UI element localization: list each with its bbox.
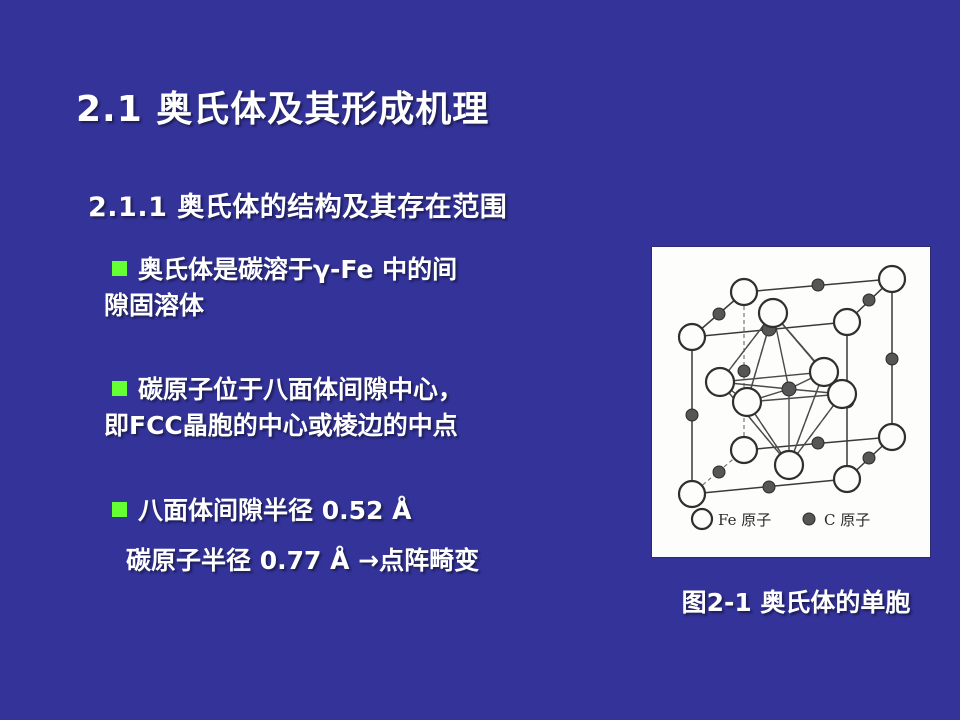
legend-c-symbol xyxy=(803,513,815,525)
bullet-item-2: 碳原子位于八面体间隙中心， 即FCC晶胞的中心或棱边的中点 xyxy=(104,372,624,443)
figure-caption: 图2-1 奥氏体的单胞 xyxy=(646,583,946,619)
green-square-bullet-icon xyxy=(112,381,127,396)
section-subtitle: 2.1.1 奥氏体的结构及其存在范围 xyxy=(88,185,507,224)
legend-fe-symbol xyxy=(692,509,712,529)
slide-root: 2.1 奥氏体及其形成机理 2.1.1 奥氏体的结构及其存在范围 奥氏体是碳溶于… xyxy=(0,0,960,720)
content-body: 奥氏体是碳溶于γ-Fe 中的间 隙固溶体 碳原子位于八面体间隙中心， 即FCC晶… xyxy=(104,252,624,578)
green-square-bullet-icon xyxy=(112,502,127,517)
green-square-bullet-icon xyxy=(112,261,127,276)
bullet-item-1-line1: 奥氏体是碳溶于γ-Fe 中的间 xyxy=(138,255,457,284)
bullet-item-1-line2: 隙固溶体 xyxy=(104,291,204,320)
legend-c-label: C 原子 xyxy=(824,511,870,529)
extra-note-line: 碳原子半径 0.77 Å →点阵畸变 xyxy=(126,543,624,579)
bullet-item-2-line1: 碳原子位于八面体间隙中心， xyxy=(138,375,463,404)
figure-image-panel: Fe 原子 C 原子 xyxy=(652,247,930,557)
bullet-item-3-line1: 八面体间隙半径 0.52 Å xyxy=(138,496,411,525)
bullet-item-3: 八面体间隙半径 0.52 Å xyxy=(104,493,624,529)
legend-fe-label: Fe 原子 xyxy=(718,511,771,529)
bullet-item-2-line2: 即FCC晶胞的中心或棱边的中点 xyxy=(104,411,458,440)
fcc-unit-cell-diagram: Fe 原子 C 原子 xyxy=(652,247,930,557)
page-title: 2.1 奥氏体及其形成机理 xyxy=(76,80,489,132)
bullet-item-1: 奥氏体是碳溶于γ-Fe 中的间 隙固溶体 xyxy=(104,252,624,323)
